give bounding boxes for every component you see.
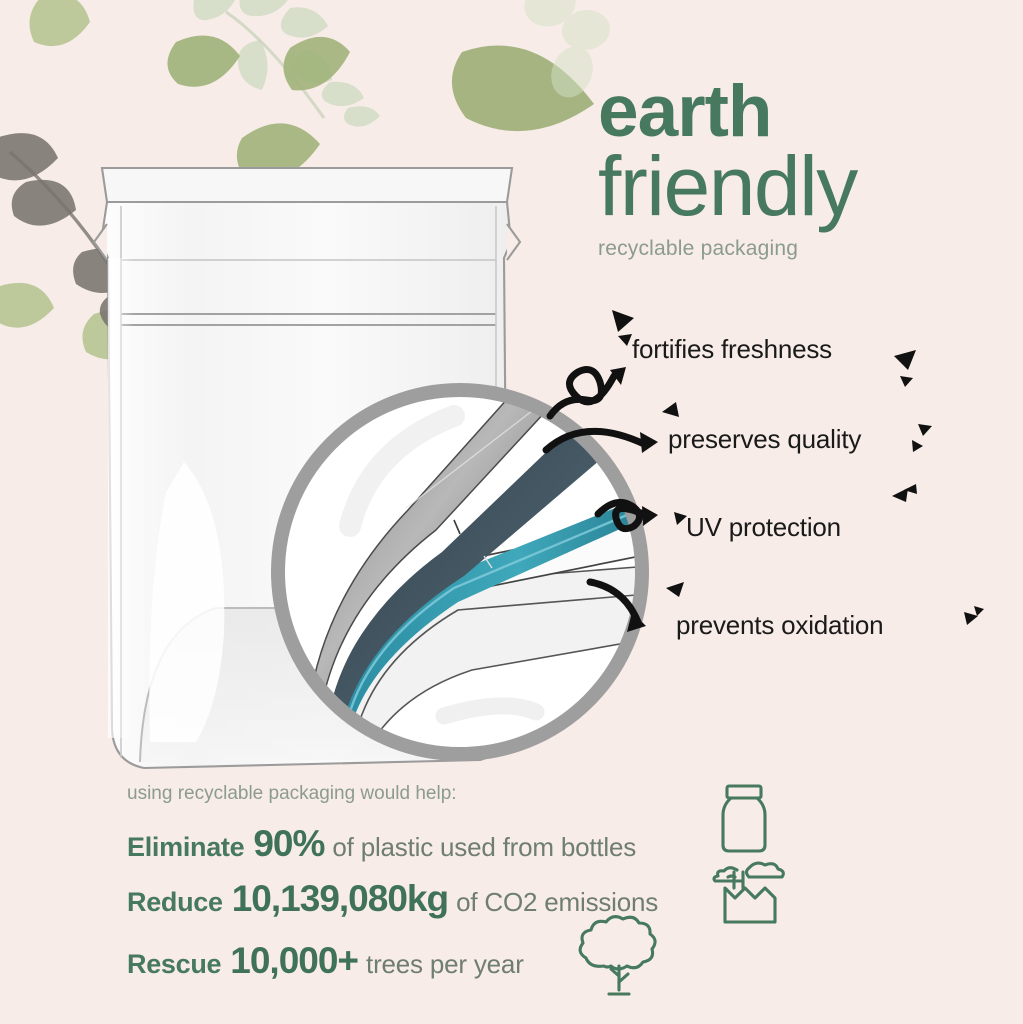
- stat-verb: Rescue: [127, 949, 221, 980]
- feature-label-fortifies-freshness: fortifies freshness: [632, 334, 832, 365]
- factory-icon: [718, 862, 782, 924]
- feature-label-prevents-oxidation: prevents oxidation: [676, 610, 883, 641]
- headline-block: earth friendly recyclable packaging: [598, 78, 1018, 261]
- stat-verb: Reduce: [127, 887, 223, 918]
- jar-icon: [714, 783, 774, 855]
- headline-line-2: friendly: [598, 147, 1018, 227]
- feature-label-uv-protection: UV protection: [686, 512, 841, 543]
- stat-value: 10,139,080kg: [232, 878, 448, 920]
- stat-tail: of CO2 emissions: [456, 887, 658, 918]
- stat-row-rescue: Rescue 10,000+ trees per year: [127, 940, 524, 982]
- stat-row-reduce: Reduce 10,139,080kg of CO2 emissions: [127, 878, 658, 920]
- stats-intro-text: using recyclable packaging would help:: [127, 783, 457, 805]
- stat-value: 10,000+: [230, 940, 358, 982]
- tree-icon: [578, 920, 660, 998]
- feature-label-preserves-quality: preserves quality: [668, 424, 861, 455]
- infographic-canvas: earth friendly recyclable packaging fort…: [0, 0, 1023, 1024]
- stat-verb: Eliminate: [127, 832, 244, 863]
- headline-line-1: earth: [598, 78, 1018, 145]
- stat-tail: of plastic used from bottles: [332, 832, 636, 863]
- stat-row-eliminate: Eliminate 90% of plastic used from bottl…: [127, 823, 636, 865]
- stat-value: 90%: [253, 823, 324, 865]
- headline-subtitle: recyclable packaging: [598, 237, 1018, 261]
- stat-tail: trees per year: [366, 949, 524, 980]
